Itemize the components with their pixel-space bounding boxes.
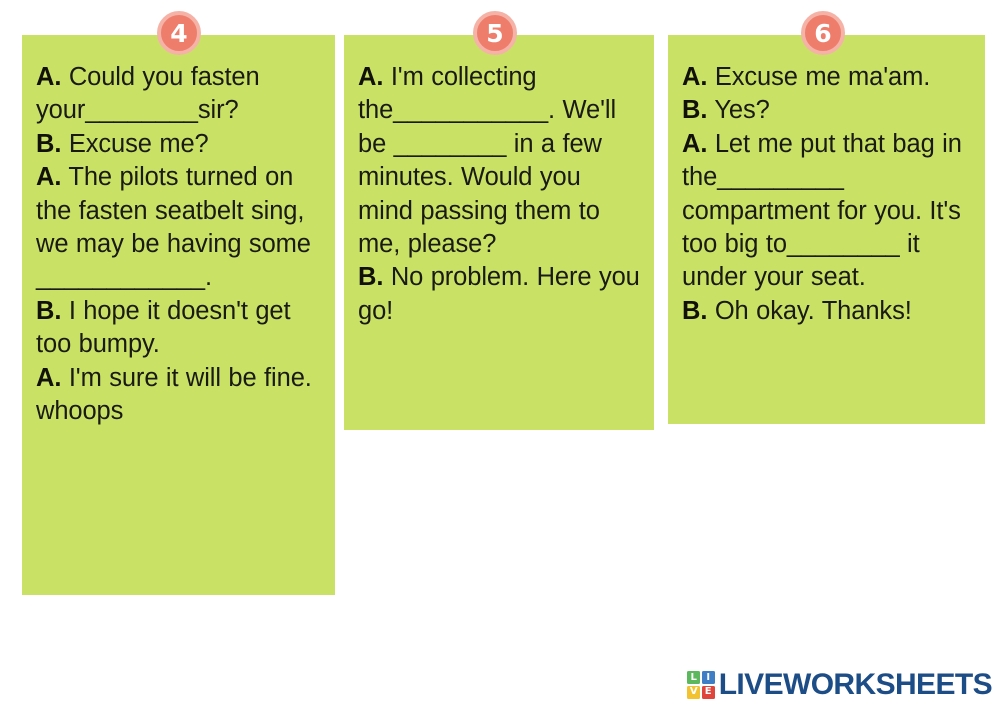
speaker-label: B. xyxy=(682,96,707,124)
exercise-card-5: A. I'm collecting the___________. We'll … xyxy=(344,35,654,430)
dialogue-text-4: A. Could you fasten your________sir? B. … xyxy=(36,61,321,428)
worksheet-canvas: A. Could you fasten your________sir? B. … xyxy=(0,0,1000,708)
logo-square-i: I xyxy=(702,671,715,684)
dialogue-line: I hope it doesn't get too bumpy. xyxy=(36,297,291,358)
speaker-label: A. xyxy=(36,163,61,191)
dialogue-line: Excuse me? xyxy=(69,130,209,158)
dialogue-line: Yes? xyxy=(714,96,769,124)
dialogue-line: No problem. Here you go! xyxy=(358,263,640,324)
speaker-label: A. xyxy=(358,63,383,91)
exercise-number-badge-4: 4 xyxy=(157,11,201,55)
liveworksheets-mark-icon: L I V E xyxy=(687,671,715,699)
logo-square-l: L xyxy=(687,671,700,684)
speaker-label: B. xyxy=(36,297,61,325)
liveworksheets-logo: L I V E LIVEWORKSHEETS xyxy=(687,668,992,702)
exercise-number-badge-5: 5 xyxy=(473,11,517,55)
exercise-card-4: A. Could you fasten your________sir? B. … xyxy=(22,35,335,595)
speaker-label: A. xyxy=(36,364,61,392)
speaker-label: B. xyxy=(358,263,383,291)
logo-square-e: E xyxy=(702,686,715,699)
exercise-number-badge-6: 6 xyxy=(801,11,845,55)
speaker-label: A. xyxy=(682,130,707,158)
dialogue-text-6: A. Excuse me ma'am. B. Yes? A. Let me pu… xyxy=(682,61,971,328)
dialogue-line: Let me put that bag in the_________ comp… xyxy=(682,130,962,292)
logo-square-v: V xyxy=(687,686,700,699)
dialogue-line: I'm sure it will be fine. whoops xyxy=(36,364,312,425)
speaker-label: B. xyxy=(682,297,707,325)
liveworksheets-wordmark: LIVEWORKSHEETS xyxy=(719,668,992,702)
dialogue-line: Could you fasten your________sir? xyxy=(36,63,260,124)
speaker-label: A. xyxy=(682,63,707,91)
dialogue-line: Oh okay. Thanks! xyxy=(715,297,912,325)
dialogue-line: I'm collecting the___________. We'll be … xyxy=(358,63,616,258)
exercise-card-6: A. Excuse me ma'am. B. Yes? A. Let me pu… xyxy=(668,35,985,424)
dialogue-line: The pilots turned on the fasten seatbelt… xyxy=(36,163,311,291)
speaker-label: A. xyxy=(36,63,61,91)
speaker-label: B. xyxy=(36,130,61,158)
dialogue-text-5: A. I'm collecting the___________. We'll … xyxy=(358,61,640,328)
dialogue-line: Excuse me ma'am. xyxy=(715,63,930,91)
